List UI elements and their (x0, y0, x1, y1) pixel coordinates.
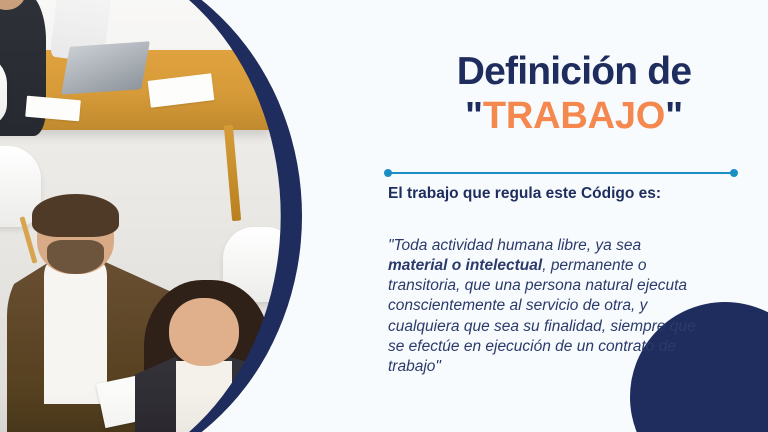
floor-shadow (0, 388, 302, 432)
title-quote-close: " (665, 95, 683, 137)
man-hair (32, 194, 119, 237)
title-line-1: Definición de (380, 52, 768, 91)
slide-canvas: Definición de "TRABAJO" El trabajo que r… (0, 0, 768, 432)
man-beard (47, 240, 104, 274)
photo-artwork (0, 0, 302, 432)
divider-bar (388, 172, 734, 174)
title-highlight-word: TRABAJO (483, 95, 665, 137)
office-team-photo (0, 0, 302, 432)
photo-panel (0, 0, 360, 432)
title-line-2: "TRABAJO" (380, 95, 768, 138)
laptop (61, 42, 150, 96)
quote-part-2: , permanente o transitoria, que una pers… (388, 257, 696, 375)
quote-part-1: "Toda actividad humana libre, ya sea (388, 237, 641, 254)
text-column: Definición de "TRABAJO" El trabajo que r… (380, 0, 768, 432)
divider-dot-right-icon (730, 169, 738, 177)
title-quote-open: " (465, 95, 483, 137)
woman-right-head (169, 298, 238, 366)
page-title: Definición de "TRABAJO" (380, 52, 768, 138)
lead-paragraph: El trabajo que regula este Código es: (388, 184, 718, 204)
divider (384, 169, 738, 177)
quote-paragraph: "Toda actividad humana libre, ya sea mat… (388, 236, 700, 377)
quote-bold-phrase: material o intelectual (388, 257, 542, 274)
